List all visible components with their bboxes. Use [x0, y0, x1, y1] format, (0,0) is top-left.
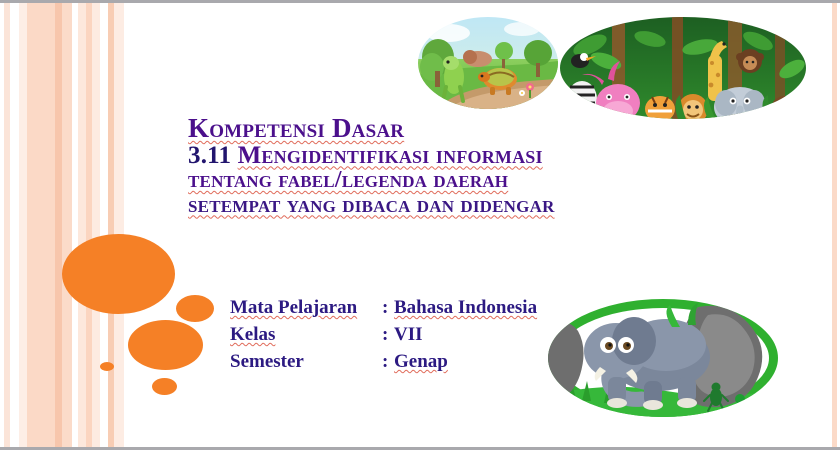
- heading-line-3: tentang fabel/legenda daerah: [188, 168, 808, 192]
- meta-label-subject: Mata Pelajaran: [230, 295, 382, 322]
- heading-line-4-text: setempat yang dibaca dan didengar: [188, 192, 555, 218]
- meta-row-semester: Semester : Genap: [230, 349, 537, 376]
- heading-line-2: 3.11 Mengidentifikasi informasi: [188, 143, 808, 169]
- fable-scene-image: [418, 17, 558, 109]
- meta-separator-class: :: [382, 322, 394, 349]
- meta-label-class: Kelas: [230, 322, 382, 349]
- competency-number: 3.11: [188, 142, 231, 169]
- meta-label-semester: Semester: [230, 349, 382, 376]
- fable-scene-illustration: [418, 17, 558, 109]
- orange-bubble-tiny: [152, 378, 177, 395]
- orange-bubble-large: [62, 234, 175, 314]
- right-edge-stripe-decoration: [830, 3, 840, 447]
- meta-value-class: VII: [394, 322, 423, 349]
- meta-row-subject: Mata Pelajaran : Bahasa Indonesia: [230, 295, 537, 322]
- orange-bubble-small: [176, 295, 214, 322]
- heading-line-3-text: tentang fabel/legenda daerah: [188, 167, 508, 193]
- slide-title-block: Kompetensi Dasar 3.11 Mengidentifikasi i…: [188, 115, 808, 217]
- meta-row-class: Kelas : VII: [230, 322, 537, 349]
- orange-bubble-medium: [128, 320, 203, 370]
- left-stripe-decoration: [0, 3, 132, 447]
- elephant-scene-image: [548, 299, 778, 417]
- heading-line-1: Kompetensi Dasar: [188, 115, 808, 143]
- elephant-scene-illustration: [548, 299, 778, 417]
- heading-line-1-text: Kompetensi Dasar: [188, 113, 404, 143]
- orange-bubble-dot: [100, 362, 114, 371]
- meta-separator-semester: :: [382, 349, 394, 376]
- jungle-animals-image: [560, 17, 806, 119]
- heading-line-2-text: Mengidentifikasi informasi: [238, 142, 543, 169]
- meta-separator-subject: :: [382, 295, 394, 322]
- meta-value-semester: Genap: [394, 349, 448, 376]
- jungle-animals-illustration: [560, 17, 806, 119]
- presentation-slide: Kompetensi Dasar 3.11 Mengidentifikasi i…: [0, 0, 840, 450]
- heading-line-4: setempat yang dibaca dan didengar: [188, 193, 808, 217]
- meta-value-subject: Bahasa Indonesia: [394, 295, 537, 322]
- slide-meta-block: Mata Pelajaran : Bahasa Indonesia Kelas …: [230, 295, 537, 376]
